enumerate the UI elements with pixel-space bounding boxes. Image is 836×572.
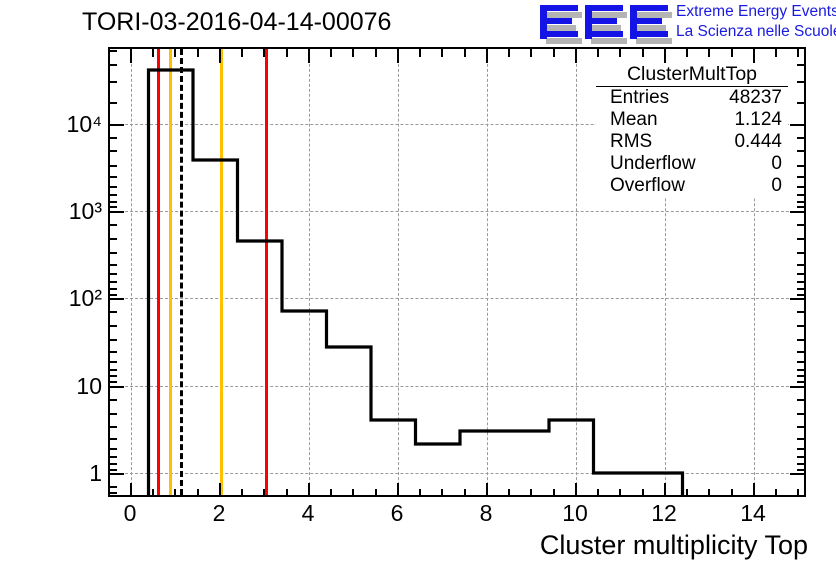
xtick-2 bbox=[219, 483, 221, 497]
xtick-minor bbox=[775, 489, 777, 497]
stats-row-underflow: Underflow 0 bbox=[596, 153, 788, 175]
ytick-minor bbox=[108, 137, 117, 139]
ytick-right-1e2 bbox=[790, 298, 806, 300]
ytick-1e2 bbox=[108, 298, 124, 300]
ytick-right-minor bbox=[797, 426, 806, 428]
logo-line-1: Extreme Energy Events bbox=[676, 2, 836, 22]
xtick-top-4 bbox=[308, 49, 310, 63]
xlabel-6: 6 bbox=[367, 500, 427, 527]
stats-value-overflow: 0 bbox=[771, 175, 782, 197]
xtick-top-minor bbox=[286, 49, 288, 57]
xtick-minor bbox=[441, 489, 443, 497]
ytick-right-minor bbox=[797, 463, 806, 465]
xtick-top-minor bbox=[152, 49, 154, 57]
ytick-right-minor bbox=[797, 165, 806, 167]
ytick-right-minor bbox=[797, 238, 806, 240]
ytick-right-minor bbox=[797, 64, 806, 66]
xtick-top-minor bbox=[263, 49, 265, 57]
xtick-minor bbox=[686, 489, 688, 497]
ytick-minor bbox=[108, 463, 117, 465]
ytick-minor bbox=[108, 224, 117, 226]
xtick-minor bbox=[352, 489, 354, 497]
eee-logo: Extreme Energy Events La Scienza nelle S… bbox=[540, 2, 832, 44]
xtick-top-minor bbox=[197, 49, 199, 57]
ytick-minor bbox=[108, 206, 117, 208]
ytick-minor bbox=[108, 186, 117, 188]
ytick-minor bbox=[108, 426, 117, 428]
ytick-right-minor bbox=[797, 375, 806, 377]
ytick-right-minor bbox=[797, 150, 806, 152]
ytick-minor bbox=[108, 102, 117, 104]
xtick-10 bbox=[575, 483, 577, 497]
xtick-minor bbox=[174, 489, 176, 497]
ytick-minor bbox=[108, 311, 117, 313]
ytick-minor bbox=[108, 369, 117, 371]
ylabel-1e2: 10² bbox=[22, 285, 102, 312]
xlabel-0: 0 bbox=[100, 500, 160, 527]
stats-value-underflow: 0 bbox=[771, 153, 782, 175]
ytick-right-minor bbox=[797, 264, 806, 266]
xtick-top-minor bbox=[330, 49, 332, 57]
xtick-top-minor bbox=[686, 49, 688, 57]
ytick-minor bbox=[108, 281, 117, 283]
xtick-minor bbox=[241, 489, 243, 497]
stats-key-overflow: Overflow bbox=[610, 175, 685, 197]
ytick-minor bbox=[108, 50, 117, 52]
ytick-minor bbox=[108, 325, 117, 327]
eee-letter-2 bbox=[585, 5, 623, 39]
ytick-right-minor bbox=[797, 311, 806, 313]
ytick-minor bbox=[108, 438, 117, 440]
ytick-minor bbox=[108, 201, 117, 203]
ytick-minor bbox=[108, 381, 117, 383]
stats-row-mean: Mean 1.124 bbox=[596, 109, 788, 131]
xtick-4 bbox=[308, 483, 310, 497]
ytick-right-minor bbox=[797, 224, 806, 226]
xtick-minor bbox=[530, 489, 532, 497]
xtick-minor bbox=[797, 489, 799, 497]
xtick-top-6 bbox=[397, 49, 399, 63]
ytick-minor bbox=[108, 413, 117, 415]
xtick-top-minor bbox=[241, 49, 243, 57]
ytick-minor bbox=[108, 469, 117, 471]
stats-value-rms: 0.444 bbox=[734, 131, 782, 153]
stats-value-mean: 1.124 bbox=[734, 109, 782, 131]
ytick-right-minor bbox=[797, 281, 806, 283]
ytick-right-minor bbox=[797, 252, 806, 254]
ytick-right-minor bbox=[797, 361, 806, 363]
xtick-top-minor bbox=[797, 49, 799, 57]
ytick-right-minor bbox=[797, 469, 806, 471]
ytick-minor bbox=[108, 81, 117, 83]
ytick-minor bbox=[108, 64, 117, 66]
xtick-top-minor bbox=[553, 49, 555, 57]
stats-row-rms: RMS 0.444 bbox=[596, 131, 788, 153]
eee-letter-1 bbox=[540, 5, 578, 39]
xtick-minor bbox=[330, 489, 332, 497]
ytick-right-minor bbox=[797, 206, 806, 208]
ylabel-1e3: 10³ bbox=[22, 198, 102, 225]
stats-key-rms: RMS bbox=[610, 131, 652, 153]
xtick-12 bbox=[664, 483, 666, 497]
xtick-top-minor bbox=[597, 49, 599, 57]
ytick-right-minor bbox=[797, 273, 806, 275]
xtick-minor bbox=[464, 489, 466, 497]
xtick-top-minor bbox=[731, 49, 733, 57]
xtick-minor bbox=[642, 489, 644, 497]
ytick-right-minor bbox=[797, 339, 806, 341]
eee-letter-3 bbox=[630, 5, 668, 39]
ylabel-1e1: 10 bbox=[22, 373, 102, 400]
ytick-right-minor bbox=[797, 288, 806, 290]
xtick-minor bbox=[375, 489, 377, 497]
xtick-minor bbox=[553, 489, 555, 497]
ytick-minor bbox=[108, 194, 117, 196]
xtick-minor bbox=[619, 489, 621, 497]
xlabel-8: 8 bbox=[456, 500, 516, 527]
xlabel-2: 2 bbox=[189, 500, 249, 527]
ytick-minor bbox=[108, 176, 117, 178]
x-axis-title: Cluster multiplicity Top bbox=[540, 530, 808, 561]
stats-key-underflow: Underflow bbox=[610, 153, 696, 175]
xlabel-12: 12 bbox=[634, 500, 694, 527]
stats-key-entries: Entries bbox=[610, 87, 669, 109]
xtick-8 bbox=[486, 483, 488, 497]
xtick-minor bbox=[419, 489, 421, 497]
xtick-top-minor bbox=[419, 49, 421, 57]
ytick-1e4 bbox=[108, 124, 124, 126]
ytick-minor bbox=[108, 351, 117, 353]
ytick-minor bbox=[108, 165, 117, 167]
ytick-1e1 bbox=[108, 386, 124, 388]
ytick-right-minor bbox=[797, 351, 806, 353]
ytick-right-1e0 bbox=[790, 473, 806, 475]
xtick-minor bbox=[152, 489, 154, 497]
ytick-minor bbox=[108, 375, 117, 377]
stats-value-entries: 48237 bbox=[729, 87, 782, 109]
ytick-minor bbox=[108, 448, 117, 450]
ytick-minor bbox=[108, 150, 117, 152]
xtick-minor bbox=[197, 489, 199, 497]
ytick-right-minor bbox=[797, 369, 806, 371]
ytick-right-1e4 bbox=[790, 124, 806, 126]
ytick-right-minor bbox=[797, 325, 806, 327]
xtick-top-minor bbox=[174, 49, 176, 57]
xlabel-10: 10 bbox=[545, 500, 605, 527]
xtick-minor bbox=[508, 489, 510, 497]
xlabel-14: 14 bbox=[723, 500, 783, 527]
xtick-top-minor bbox=[508, 49, 510, 57]
ylabel-1e4: 10⁴ bbox=[22, 111, 102, 138]
xtick-top-8 bbox=[486, 49, 488, 63]
stats-row-overflow: Overflow 0 bbox=[596, 175, 788, 197]
eee-logo-text: Extreme Energy Events La Scienza nelle S… bbox=[676, 2, 836, 42]
xtick-top-12 bbox=[664, 49, 666, 63]
ytick-minor bbox=[108, 252, 117, 254]
ytick-right-minor bbox=[797, 81, 806, 83]
xtick-top-10 bbox=[575, 49, 577, 63]
xtick-top-minor bbox=[619, 49, 621, 57]
xtick-top-minor bbox=[642, 49, 644, 57]
xtick-minor bbox=[286, 489, 288, 497]
xtick-minor bbox=[263, 489, 265, 497]
xtick-minor bbox=[597, 489, 599, 497]
page-title: TORI-03-2016-04-14-00076 bbox=[82, 8, 391, 37]
ytick-minor bbox=[108, 238, 117, 240]
xtick-top-14 bbox=[753, 49, 755, 63]
xtick-6 bbox=[397, 483, 399, 497]
ytick-right-minor bbox=[797, 448, 806, 450]
ytick-right-minor bbox=[797, 176, 806, 178]
ytick-right-minor bbox=[797, 399, 806, 401]
xtick-top-minor bbox=[464, 49, 466, 57]
xtick-top-minor bbox=[530, 49, 532, 57]
xtick-top-minor bbox=[775, 49, 777, 57]
ytick-right-minor bbox=[797, 456, 806, 458]
ytick-minor bbox=[108, 399, 117, 401]
xtick-top-minor bbox=[441, 49, 443, 57]
ytick-minor bbox=[108, 294, 117, 296]
ytick-minor bbox=[108, 288, 117, 290]
xtick-0 bbox=[130, 483, 132, 497]
ytick-right-minor bbox=[797, 194, 806, 196]
ytick-minor bbox=[108, 273, 117, 275]
stats-box: ClusterMultTop Entries 48237 Mean 1.124 … bbox=[596, 63, 788, 197]
xtick-top-2 bbox=[219, 49, 221, 63]
ytick-minor bbox=[108, 486, 117, 488]
logo-line-2: La Scienza nelle Scuole bbox=[676, 22, 836, 42]
ytick-right-minor bbox=[797, 413, 806, 415]
ytick-minor bbox=[108, 492, 117, 494]
ytick-minor bbox=[108, 339, 117, 341]
ytick-1e0 bbox=[108, 473, 124, 475]
ytick-minor bbox=[108, 264, 117, 266]
xlabel-4: 4 bbox=[278, 500, 338, 527]
ytick-right-1e3 bbox=[790, 211, 806, 213]
xtick-top-minor bbox=[708, 49, 710, 57]
ytick-right-minor bbox=[797, 438, 806, 440]
ytick-right-minor bbox=[797, 381, 806, 383]
xtick-minor bbox=[731, 489, 733, 497]
stats-key-mean: Mean bbox=[610, 109, 658, 131]
stats-row-entries: Entries 48237 bbox=[596, 87, 788, 109]
ytick-minor bbox=[108, 456, 117, 458]
ylabel-1e0: 1 bbox=[22, 460, 102, 487]
xtick-top-0 bbox=[130, 49, 132, 63]
ytick-right-1e1 bbox=[790, 386, 806, 388]
xtick-minor bbox=[708, 489, 710, 497]
ytick-1e3 bbox=[108, 211, 124, 213]
eee-logo-mark bbox=[540, 5, 670, 41]
ytick-right-minor bbox=[797, 137, 806, 139]
ytick-right-minor bbox=[797, 102, 806, 104]
ytick-right-minor bbox=[797, 186, 806, 188]
ytick-right-minor bbox=[797, 201, 806, 203]
stats-title: ClusterMultTop bbox=[596, 63, 788, 87]
xtick-14 bbox=[753, 483, 755, 497]
ytick-minor bbox=[108, 361, 117, 363]
ytick-right-minor bbox=[797, 294, 806, 296]
xtick-top-minor bbox=[352, 49, 354, 57]
xtick-top-minor bbox=[375, 49, 377, 57]
